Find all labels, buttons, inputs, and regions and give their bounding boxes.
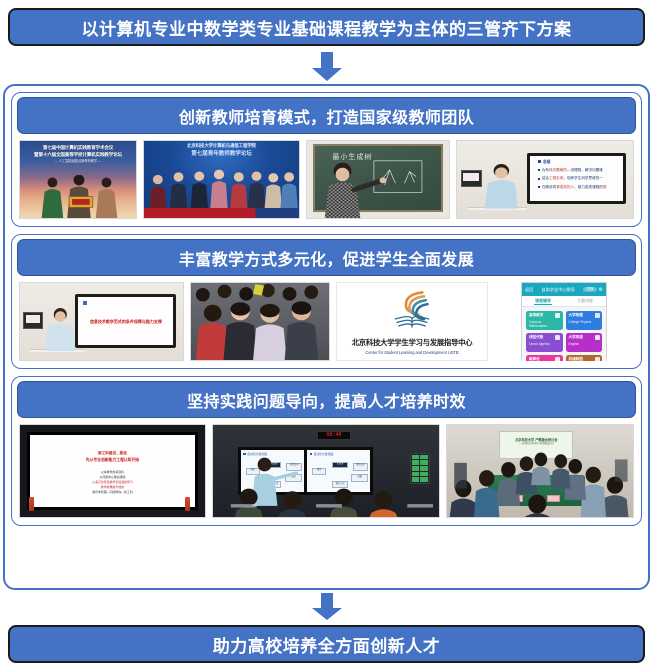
course-card[interactable]: 大学物理 College Physics — [566, 311, 603, 330]
slide-title-line1: 新工科建设，路径 — [30, 451, 194, 456]
photo-award-ceremony: 第七届中国计算机实践教育学术会议 暨第十六届全国高等学校计算机实践教学论坛 — … — [19, 140, 137, 219]
display-screen: 总结 为有效问题两的—流理程，解决问题难 结合工程实例，培养学生科学思维的一 在… — [530, 156, 623, 201]
slide-bullet: 结合工程实例，培养学生科学思维的一 — [538, 176, 618, 181]
course-card[interactable]: 高等数学 Calculus Mathematics — [526, 311, 563, 330]
section-1-photo-row: 第七届中国计算机实践教育学术会议 暨第十六届全国高等学校计算机实践教学论坛 — … — [12, 134, 641, 226]
slide-bullet: 为有效问题两的—流理程，解决问题难 — [538, 168, 618, 173]
app-nav-bar: 返回 自助学业中心指导 切换 ⚙ — [522, 283, 606, 296]
presenter-silhouette — [482, 164, 521, 209]
section-1-header: 创新教师培育模式，打造国家级教师团队 — [17, 97, 636, 134]
interactive-whiteboard: 信息技术教学范式的条件保障与能力支撑 — [75, 294, 176, 348]
whiteboard-screen: 信息技术教学范式的条件保障与能力支撑 — [78, 297, 173, 345]
photo-dual-smartboard-classroom: 08:40 自动化大类基础 理论 实践课 项目实训 竞赛 能力产出 自动化大类基… — [212, 424, 440, 518]
course-card[interactable]: 机械制图 Drawing — [566, 355, 603, 361]
award-people-group — [20, 175, 136, 218]
photo-projection-lecture: 新工科建设，路径 先从专业创新能力工程认知开始 以本教学改革目标 以问题中心驱动… — [19, 424, 206, 518]
bottom-conclusion-text: 助力高校培养全方面创新人才 — [213, 632, 441, 657]
section-panel-2: 丰富教学方式多元化，促进学生全面发展 信息技术教学范式的条件保障与能力支撑 — [11, 234, 642, 369]
section-3-photo-row: 新工科建设，路径 先从专业创新能力工程认知开始 以本教学改革目标 以问题中心驱动… — [12, 418, 641, 525]
projected-slide: 新工科建设，路径 先从专业创新能力工程认知开始 以本教学改革目标 以问题中心驱动… — [30, 435, 194, 506]
logo-chinese-name: 北京科技大学学生学习与发展指导中心 — [337, 337, 487, 348]
section-panel-1: 创新教师培育模式，打造国家级教师团队 第七届中国计算机实践教育学术会议 暨第十六… — [11, 92, 642, 227]
nav-back-button[interactable]: 返回 — [525, 287, 533, 293]
photo-mobile-app: 返回 自助学业中心指导 切换 ⚙ 课程辅导 主题讲座 — [494, 282, 634, 361]
top-title-box: 以计算机专业中数学类专业基础课程教学为主体的三管齐下方案 — [8, 8, 645, 46]
projection-screen: 新工科建设，路径 先从专业创新能力工程认知开始 以本教学改革目标 以问题中心驱动… — [27, 432, 197, 509]
photo-student-audience — [190, 282, 330, 361]
slide-title-line2: 先从专业创新能力工程认知开始 — [30, 458, 194, 463]
section-2-header: 丰富教学方式多元化，促进学生全面发展 — [17, 239, 636, 276]
side-monitor — [461, 170, 482, 187]
app-tab-bar: 课程辅导 主题讲座 — [522, 296, 606, 307]
section-1-header-text: 创新教师培育模式，打造国家级教师团队 — [179, 104, 474, 128]
logo-card: 北京科技大学学生学习与发展指导中心 Center for Student Lea… — [337, 283, 487, 360]
lecturer-silhouette — [44, 308, 77, 351]
bottom-conclusion-box: 助力高校培养全方面创新人才 — [8, 625, 645, 663]
course-card[interactable]: 概率论 Probability — [526, 355, 563, 361]
nav-switch-pill[interactable]: 切换 — [583, 287, 596, 292]
top-title-text: 以计算机专业中数学类专业基础课程教学为主体的三管齐下方案 — [82, 15, 572, 40]
gear-icon[interactable]: ⚙ — [599, 287, 603, 293]
course-card-grid: 高等数学 Calculus Mathematics 大学物理 College P… — [522, 307, 606, 361]
arrow-down-icon-top — [310, 52, 344, 82]
slide-body-lines: 以本教学改革目标 以问题中心驱动课堂 以多元化智慧教学手段激励学习 教学效果提升… — [30, 470, 194, 495]
slide-bullets: 为有效问题两的—流理程，解决问题难 结合工程实例，培养学生科学思维的一 在精设同… — [538, 168, 618, 194]
meeting-attendees — [447, 425, 633, 517]
section-2-photo-row: 信息技术教学范式的条件保障与能力支撑 — [12, 276, 641, 368]
photo-faculty-group: 北京科技大学计算机与通信工程学院 第七届青年教师教学论坛 — [143, 140, 300, 219]
tab-topic-lectures[interactable]: 主题讲座 — [564, 298, 606, 304]
classroom-people — [213, 425, 439, 517]
slide-marker — [83, 301, 87, 305]
photo-lecturer-whiteboard: 信息技术教学范式的条件保障与能力支撑 — [19, 282, 184, 361]
section-panel-3: 坚持实践问题导向，提高人才培养时效 新工科建设，路径 先从专业创新能力工程认知开… — [11, 376, 642, 526]
sections-container: 创新教师培育模式，打造国家级教师团队 第七届中国计算机实践教育学术会议 暨第十六… — [3, 84, 650, 590]
slide-caption: 总结 — [538, 160, 551, 165]
group-people-silhouettes — [144, 141, 299, 218]
arrow-down-icon-bottom — [310, 593, 344, 621]
tab-course-tutoring[interactable]: 课程辅导 — [522, 298, 564, 304]
phone-frame: 返回 自助学业中心指导 切换 ⚙ 课程辅导 主题讲座 — [521, 282, 607, 361]
whiteboard-slide-title: 信息技术教学范式的条件保障与能力支撑 — [84, 319, 168, 325]
photo-chalkboard-lecture: 最小生成树 — [306, 140, 450, 219]
fire-extinguisher — [29, 497, 34, 511]
side-monitor — [23, 312, 43, 329]
photo-presenter-display: 总结 为有效问题两的—流理程，解决问题难 结合工程实例，培养学生科学思维的一 在… — [456, 140, 634, 219]
section-3-header-text: 坚持实践问题导向，提高人才培养时效 — [187, 388, 466, 412]
photo-ustb-learning-center-logo: 北京科技大学学生学习与发展指导中心 Center for Student Lea… — [336, 282, 488, 361]
course-card[interactable]: 线性代数 Linear Algebra — [526, 333, 563, 352]
stage-floor — [144, 208, 299, 218]
section-2-header-text: 丰富教学方式多元化，促进学生全面发展 — [179, 246, 474, 270]
logo-english-name: Center for Student Learning and Developm… — [337, 350, 487, 355]
nav-title: 自助学业中心指导 — [541, 287, 575, 293]
wall-display: 总结 为有效问题两的—流理程，解决问题难 结合工程实例，培养学生科学思维的一 在… — [527, 153, 626, 204]
fire-extinguisher — [185, 497, 190, 511]
section-3-header: 坚持实践问题导向，提高人才培养时效 — [17, 381, 636, 418]
award-banner: 第七届中国计算机实践教育学术会议 暨第十六届全国高等学校计算机实践教学论坛 — … — [22, 145, 133, 164]
teacher-silhouette — [307, 141, 449, 218]
photo-conference-meeting: 北京科技大学 产教融合研讨会 — 深化校企协同育人机制建设研讨 — [446, 424, 634, 518]
slide-bullet: 在精设同育成效的人，助力各类课程的提 — [538, 185, 618, 190]
book-swoosh-logo-icon — [376, 289, 448, 332]
course-card[interactable]: 大学英语 English — [566, 333, 603, 352]
